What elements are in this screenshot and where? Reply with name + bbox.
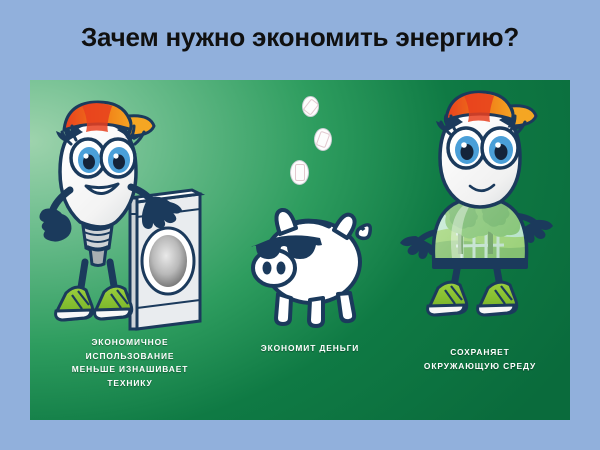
caption-line: МЕНЬШЕ ИЗНАШИВАЕТ — [30, 363, 230, 377]
panel-efficient-use: ЭКОНОМИЧНОЕ ИСПОЛЬЗОВАНИЕ МЕНЬШЕ ИЗНАШИВ… — [30, 80, 230, 420]
coin-icon — [302, 96, 319, 117]
coin-icon — [290, 160, 309, 185]
lightbulb-mascot-with-washing-machine — [30, 86, 230, 336]
caption-saves-money: ЭКОНОМИТ ДЕНЬГИ — [230, 342, 390, 356]
caption-protects-environment: СОХРАНЯЕТ ОКРУЖАЮЩУЮ СРЕДУ — [390, 346, 570, 373]
caption-line: ЭКОНОМИЧНОЕ — [30, 336, 230, 350]
piggy-bank-icon — [238, 190, 388, 330]
caption-line: ЭКОНОМИТ ДЕНЬГИ — [230, 342, 390, 356]
caption-efficient-use: ЭКОНОМИЧНОЕ ИСПОЛЬЗОВАНИЕ МЕНЬШЕ ИЗНАШИВ… — [30, 336, 230, 390]
panel-protects-environment: СОХРАНЯЕТ ОКРУЖАЮЩУЮ СРЕДУ — [390, 80, 570, 420]
caption-line: ТЕХНИКУ — [30, 377, 230, 391]
slide-canvas: Зачем нужно экономить энергию? — [0, 0, 600, 450]
illustration-area: ЭКОНОМИЧНОЕ ИСПОЛЬЗОВАНИЕ МЕНЬШЕ ИЗНАШИВ… — [30, 80, 570, 420]
coin-icon — [314, 128, 332, 151]
thumbs-up-hand — [40, 209, 72, 242]
caption-line: ОКРУЖАЮЩУЮ СРЕДУ — [390, 360, 570, 374]
sneaker-right — [95, 286, 132, 319]
caption-line: ИСПОЛЬЗОВАНИЕ — [30, 350, 230, 364]
sneaker-left — [428, 282, 467, 315]
page-title: Зачем нужно экономить энергию? — [0, 22, 600, 53]
sneaker-left — [56, 287, 93, 320]
caption-line: СОХРАНЯЕТ — [390, 346, 570, 360]
lightbulb-mascot-with-nature-scene — [396, 86, 566, 336]
sneaker-right — [478, 282, 517, 315]
hand-left — [400, 236, 435, 259]
panel-saves-money: ЭКОНОМИТ ДЕНЬГИ — [230, 80, 390, 420]
